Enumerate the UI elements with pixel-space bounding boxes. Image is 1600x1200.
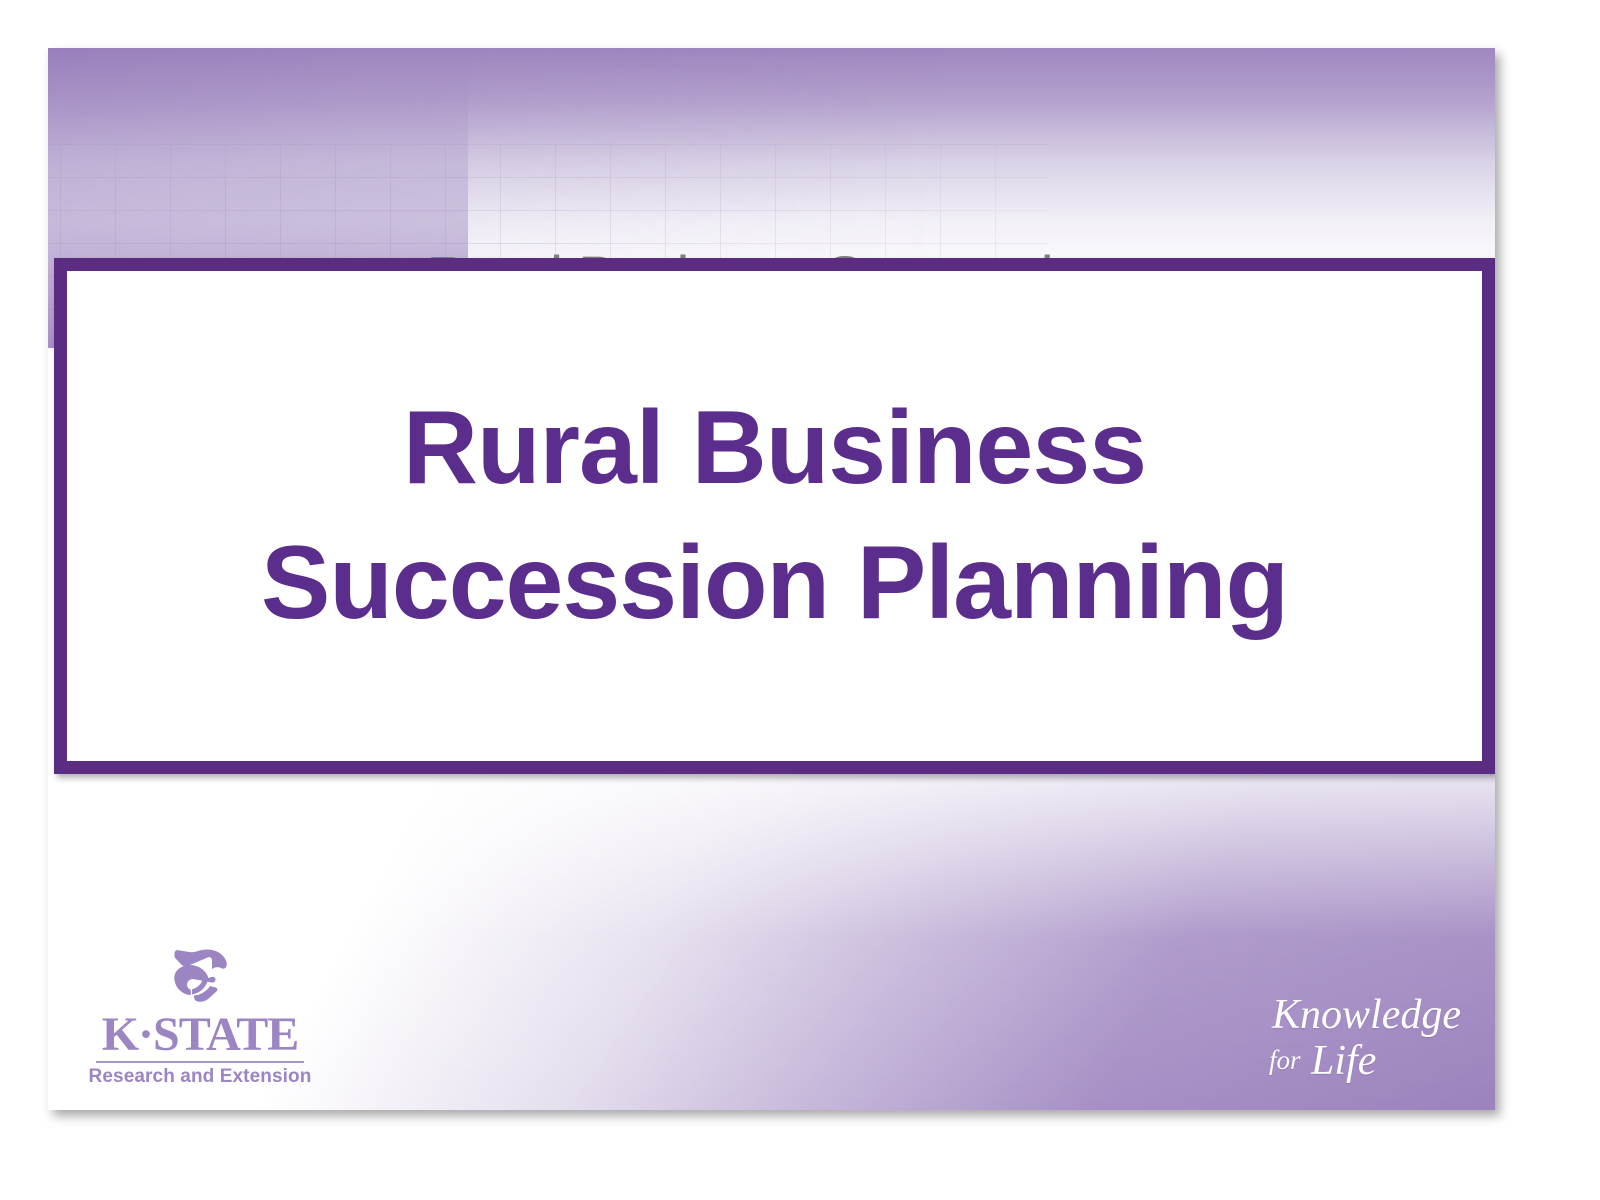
kstate-wordmark: K·STATE [80, 1012, 320, 1058]
tagline-word-knowledge: Knowledge [1272, 994, 1461, 1036]
title-line-2: Succession Planning [85, 516, 1464, 651]
knowledge-for-life-tagline: Knowledge for Life [1241, 988, 1461, 1080]
title-line-1: Rural Business [85, 381, 1464, 516]
wildcat-head-icon [165, 948, 235, 1010]
page-title: Rural Business Succession Planning [67, 381, 1482, 651]
title-frame-box: Rural Business Succession Planning [54, 258, 1495, 774]
presentation-slide: Rural Business Succession Rural Business… [48, 48, 1495, 1110]
tagline-word-for: for [1269, 1047, 1301, 1074]
kstate-subline: Research and Extension [80, 1066, 320, 1088]
tagline-word-life: Life [1311, 1040, 1376, 1082]
kstate-logo: K·STATE Research and Extension [80, 948, 320, 1088]
kstate-divider-rule [96, 1061, 304, 1063]
